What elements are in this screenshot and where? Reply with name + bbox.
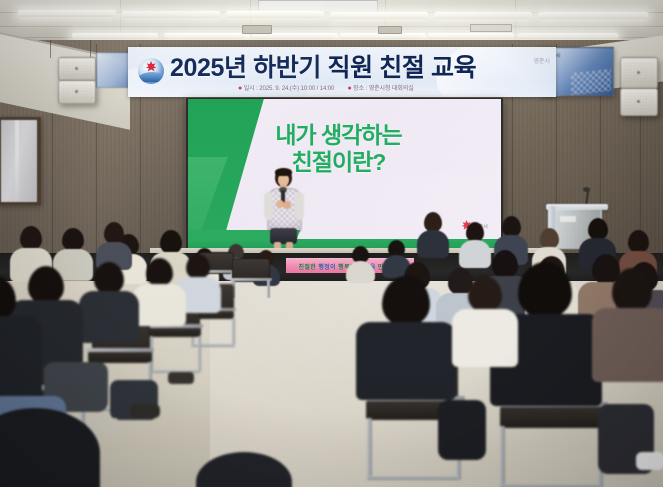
ceiling-light-tube xyxy=(330,12,428,19)
ceiling-grid-line xyxy=(250,0,251,44)
audience-shoe xyxy=(130,404,160,418)
wall-mounted-display-left xyxy=(0,117,41,205)
speaker-driver-dot xyxy=(637,100,640,103)
auditorium-photo: 영춘시 2025년 하반기 직원 친절 교육 ● 일시 : 2025. 9. 2… xyxy=(0,0,663,487)
stage-banner-word-2: 행정이 xyxy=(318,265,336,271)
audience-shoe xyxy=(636,452,663,470)
ceiling-light-tube xyxy=(18,10,116,17)
presenter-hair-front xyxy=(275,168,292,176)
speaker-suspension-rod xyxy=(50,40,51,58)
ceiling-speaker-right xyxy=(620,57,658,89)
speaker-driver-dot xyxy=(75,67,78,70)
ceiling-light-tube xyxy=(434,12,532,19)
speaker-suspension-rod xyxy=(90,40,91,58)
banner-org-mark: 영춘시 xyxy=(533,58,550,66)
city-emblem-logo-icon xyxy=(138,58,164,84)
presenter-arm-right xyxy=(295,192,304,220)
emblem-wave-shape xyxy=(138,72,164,82)
ceiling-speaker-right-lower xyxy=(620,88,658,116)
banner-subtitle: ● 일시 : 2025. 9. 24.(수) 10:00 / 14:00 ● 장… xyxy=(238,84,538,94)
presenter-hand-right xyxy=(283,201,291,209)
banner-datetime: 일시 : 2025. 9. 24.(수) 10:00 / 14:00 xyxy=(244,86,335,92)
lectern-logo-plate xyxy=(560,216,576,222)
ceiling-speaker-left-lower xyxy=(58,80,96,104)
ceiling-vent xyxy=(378,26,402,34)
slide-heading-line1: 내가 생각하는 xyxy=(275,122,401,148)
banner-title-subject: 직원 친절 교육 xyxy=(328,54,477,82)
ceiling-panel-line xyxy=(0,26,663,27)
ceiling-light-tube xyxy=(428,33,514,39)
audience-shoe xyxy=(168,372,194,384)
banner-title-period: 2025년 하반기 xyxy=(170,54,328,82)
banner-place: 장소 : 영춘시청 대회의실 xyxy=(353,86,413,92)
microphone-head-icon xyxy=(583,187,590,192)
speaker-driver-dot xyxy=(637,71,640,74)
ceiling-light-tube xyxy=(164,33,250,39)
ceiling-speaker-left xyxy=(58,57,96,81)
projection-screen: 내가 생각하는 친절이란? 영춘시 xyxy=(188,99,501,253)
ceiling-light-tube xyxy=(72,33,158,39)
bullet-icon: ● xyxy=(238,85,242,92)
ceiling-vent xyxy=(242,25,272,34)
ceiling-light-tube xyxy=(122,11,220,18)
ceiling-light-tube xyxy=(226,11,324,18)
slide-heading: 내가 생각하는 친절이란? xyxy=(188,122,489,176)
ceiling-light-tube xyxy=(518,33,618,39)
banner-title: 2025년 하반기 직원 친절 교육 xyxy=(170,53,530,83)
presenter xyxy=(262,168,306,256)
event-banner: 2025년 하반기 직원 친절 교육 ● 일시 : 2025. 9. 24.(수… xyxy=(128,47,556,97)
speaker-driver-dot xyxy=(75,90,78,93)
audience-arm xyxy=(438,400,486,460)
ceiling-light-tube xyxy=(538,12,648,19)
slide-heading-line2: 친절이란? xyxy=(188,149,489,176)
bullet-icon: ● xyxy=(347,85,351,92)
presenter-arm-left xyxy=(264,192,273,220)
stage-banner-word-1: 친절한 xyxy=(298,265,316,271)
ceiling-grid-line xyxy=(515,0,516,44)
ceiling-access-hatch xyxy=(470,24,512,32)
display-checker-pattern xyxy=(571,69,611,95)
display-glare xyxy=(15,120,19,202)
